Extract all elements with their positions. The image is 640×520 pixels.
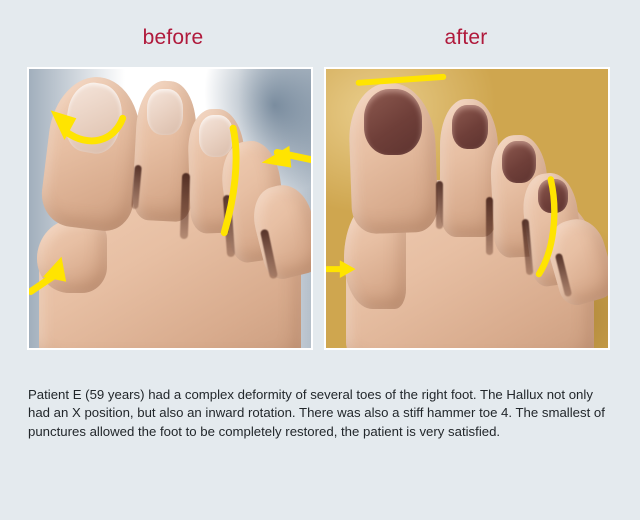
toe-4-nail [538,179,568,213]
after-photo [324,67,610,350]
before-photo-canvas [29,69,311,348]
label-after: after [406,26,526,50]
case-caption: Patient E (59 years) had a complex defor… [28,386,614,441]
hallux-nail [364,89,422,155]
toe-2-nail [147,89,183,135]
after-photo-canvas [326,69,608,348]
web-space-2 [486,197,493,255]
toe-3-nail [502,141,536,183]
before-photo [27,67,313,350]
toe-2-nail [452,105,488,149]
label-before: before [113,26,233,50]
web-space-1 [436,181,443,229]
toe-3-nail [199,115,233,157]
figure-page: before after [0,0,640,520]
